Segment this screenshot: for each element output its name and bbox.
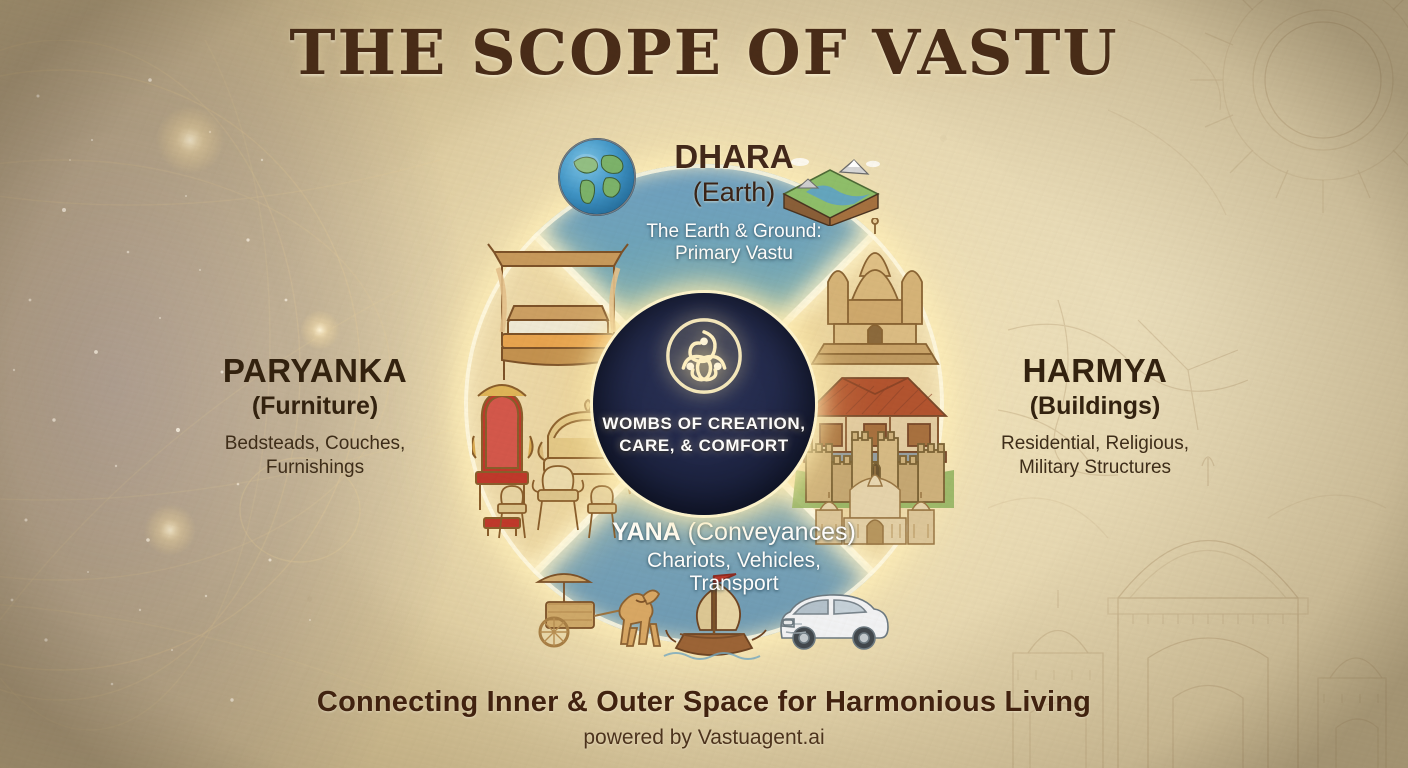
quadrant-harmya-sub-line1: Residential, Religious, bbox=[960, 432, 1230, 456]
starfield-decoration bbox=[0, 0, 520, 768]
celestial-arcs-decoration bbox=[0, 40, 500, 760]
quadrant-paryanka-sub-line1: Bedsteads, Couches, bbox=[180, 432, 450, 456]
footer: Connecting Inner & Outer Space for Harmo… bbox=[0, 686, 1408, 750]
quadrant-harmya-sub-line2: Military Structures bbox=[960, 456, 1230, 480]
triskelion-icon bbox=[661, 313, 747, 399]
quadrant-harmya-name: HARMYA bbox=[960, 352, 1230, 390]
footer-credit: powered by Vastuagent.ai bbox=[0, 726, 1408, 750]
footer-tagline: Connecting Inner & Outer Space for Harmo… bbox=[0, 686, 1408, 719]
center-hub-line2: CARE, & COMFORT bbox=[602, 435, 805, 457]
quadrant-paryanka-paren: (Furniture) bbox=[180, 392, 450, 421]
page-title: THE SCOPE OF VASTU bbox=[0, 16, 1408, 89]
quadrant-paryanka-sub-line2: Furnishings bbox=[180, 456, 450, 480]
quadrant-harmya-paren: (Buildings) bbox=[960, 392, 1230, 421]
quadrant-paryanka-name: PARYANKA bbox=[180, 352, 450, 390]
quadrant-label-harmya: HARMYA (Buildings) Residential, Religiou… bbox=[960, 352, 1230, 481]
center-hub-text: WOMBS OF CREATION, CARE, & COMFORT bbox=[602, 413, 805, 457]
center-hub-line1: WOMBS OF CREATION, bbox=[602, 413, 805, 435]
center-hub: WOMBS OF CREATION, CARE, & COMFORT bbox=[593, 293, 815, 515]
infographic-canvas: THE SCOPE OF VASTU bbox=[0, 0, 1408, 768]
quadrant-label-paryanka: PARYANKA (Furniture) Bedsteads, Couches,… bbox=[180, 352, 450, 481]
vine-tendrils-decoration bbox=[998, 300, 1258, 480]
